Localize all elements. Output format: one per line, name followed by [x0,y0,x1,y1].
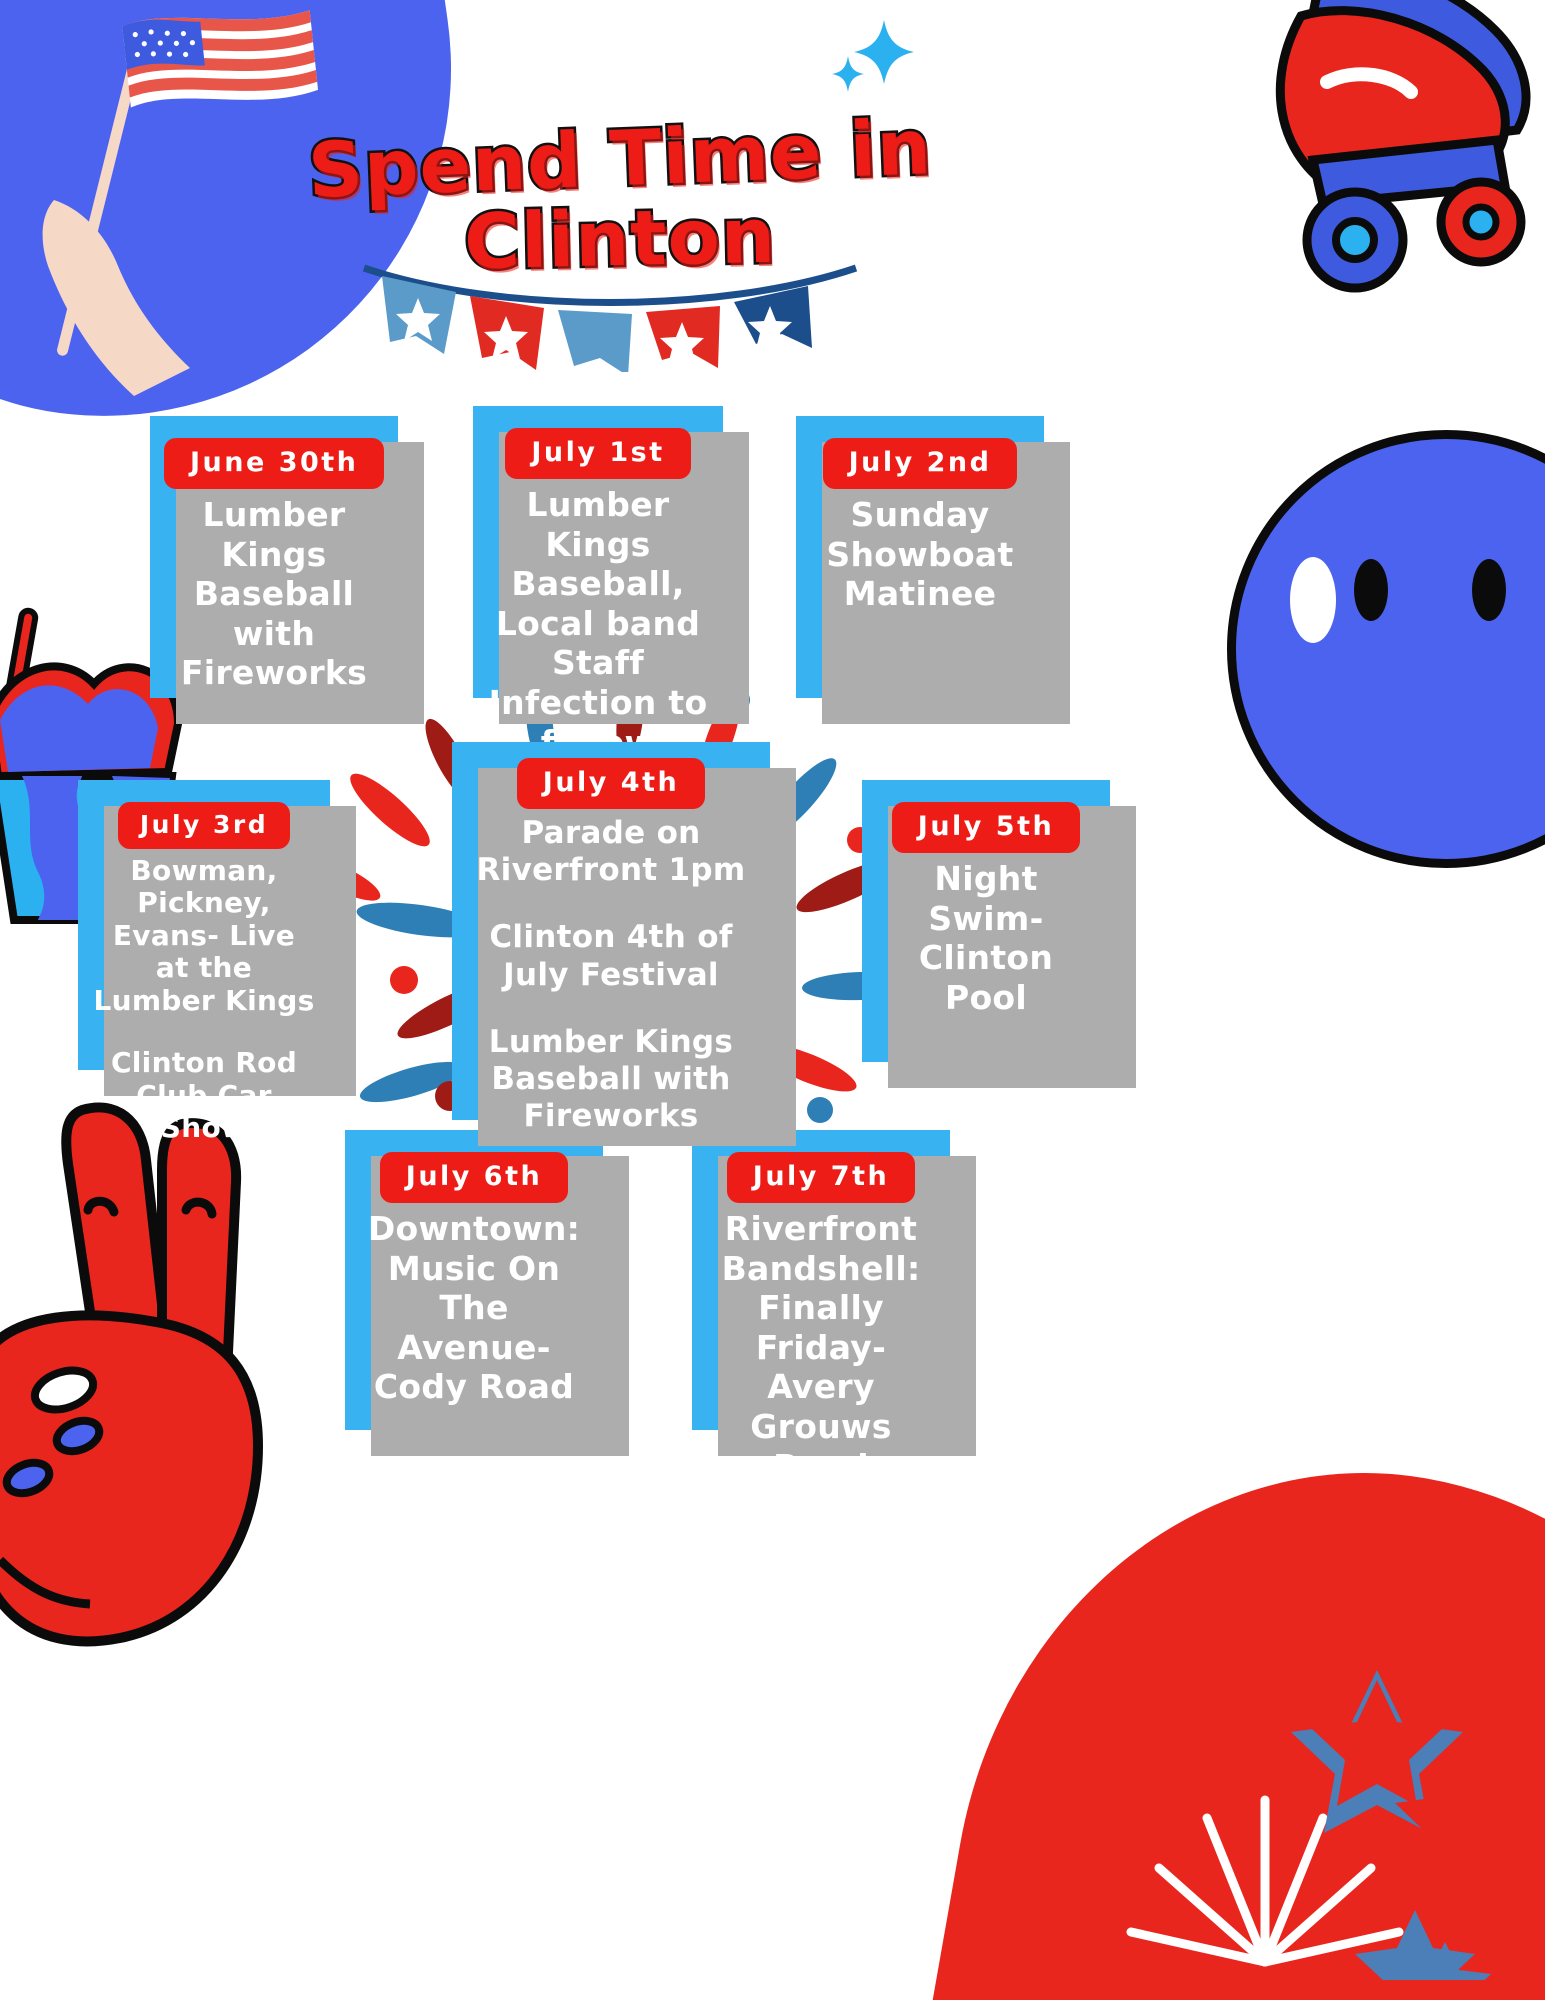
event-description: Bowman, Pickney, Evans- Live at the Lumb… [92,855,316,1145]
event-card-july-7[interactable]: July 7th Riverfront Bandshell: Finally F… [692,1130,950,1430]
event-description: Riverfront Bandshell: Finally Friday- Av… [706,1209,936,1486]
event-card-june-30[interactable]: June 30th Lumber Kings Baseball with Fir… [150,416,398,698]
flag-pole [56,63,139,357]
event-card-july-5[interactable]: July 5th Night Swim- Clinton Pool [862,780,1110,1062]
event-card-july-4[interactable]: July 4th Parade on Riverfront 1pm Clinto… [452,742,770,1120]
event-card-july-2[interactable]: July 2nd Sunday Showboat Matinee [796,416,1044,698]
event-card-july-6[interactable]: July 6th Downtown: Music On The Avenue- … [345,1130,603,1430]
event-description: Night Swim- Clinton Pool [876,859,1096,1017]
roller-skate-icon [1205,0,1535,310]
event-description: Sunday Showboat Matinee [810,495,1030,614]
hand-holding-flag-icon [14,170,244,400]
event-date-badge: July 1st [505,428,690,479]
event-card-july-1[interactable]: July 1st Lumber Kings Baseball, Local ba… [473,406,723,698]
event-date-badge: July 3rd [118,802,290,849]
peace-hand-icon [0,1090,360,1650]
event-date-badge: July 5th [892,802,1080,853]
american-flag-icon [113,0,326,153]
event-date-badge: June 30th [164,438,384,489]
event-card-july-3[interactable]: July 3rd Bowman, Pickney, Evans- Live at… [78,780,330,1070]
event-description: Lumber Kings Baseball, Local band Staff … [487,485,709,762]
event-description: Downtown: Music On The Avenue- Cody Road [359,1209,589,1407]
poster-canvas: Spend Time in Clinton [0,0,1545,2000]
blue-face-balloon-icon [1227,430,1545,868]
event-description: Lumber Kings Baseball with Fireworks [164,495,384,693]
red-blob-decoration [905,1410,1545,2000]
event-date-badge: July 4th [517,758,705,809]
poster-title: Spend Time in Clinton [300,122,940,277]
event-date-badge: July 6th [380,1152,568,1203]
sparkle-icon [826,14,916,94]
firework-icon [1115,1550,1535,1980]
title-line-2: Clinton [299,196,940,284]
event-description: Parade on Riverfront 1pm Clinton 4th of … [466,815,756,1135]
event-date-badge: July 2nd [823,438,1018,489]
event-date-badge: July 7th [727,1152,915,1203]
